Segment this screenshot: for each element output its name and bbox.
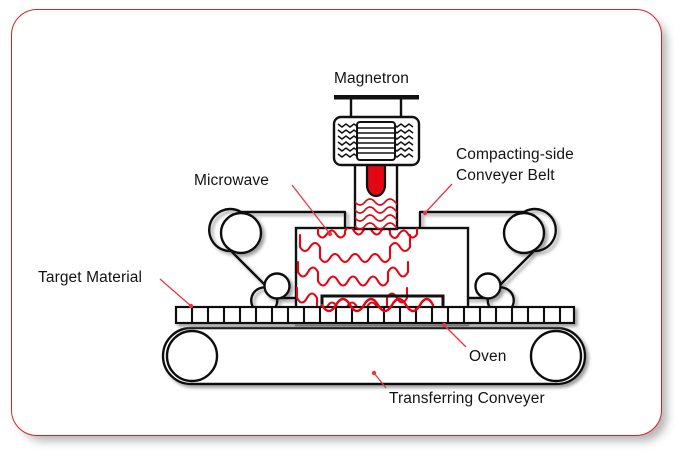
- leader-target-material: [160, 279, 191, 306]
- leader-compacting-belt: [425, 184, 452, 213]
- target-material-strip: [176, 307, 574, 323]
- diagram-stage: Magnetron Microwave Compacting-side Conv…: [0, 0, 685, 458]
- label-transferring-conveyer: Transferring Conveyer: [389, 390, 545, 409]
- label-compacting-side-conveyer-belt-line1: Compacting-side: [456, 146, 574, 165]
- magnetron: [334, 95, 419, 165]
- transferring-pulley-right: [531, 331, 581, 381]
- compacting-pulley-large-left: [221, 213, 261, 253]
- magnetron-top-bar: [334, 95, 419, 100]
- label-target-material: Target Material: [38, 269, 142, 288]
- process-diagram-svg: [0, 0, 685, 458]
- compacting-pulley-large-right: [504, 213, 544, 253]
- compacting-pulley-small-left: [265, 274, 290, 299]
- transferring-conveyor: [163, 328, 585, 384]
- label-magnetron: Magnetron: [334, 70, 409, 89]
- compacting-pulley-small-right: [476, 274, 501, 299]
- transferring-conveyor-belt: [163, 328, 585, 384]
- transferring-pulley-left: [167, 331, 217, 381]
- label-microwave: Microwave: [194, 172, 269, 191]
- waveguide: [355, 160, 405, 229]
- target-material: [176, 307, 574, 323]
- leader-microwave: [292, 185, 330, 234]
- label-oven: Oven: [469, 348, 506, 367]
- label-compacting-side-conveyer-belt-line2: Conveyer Belt: [456, 167, 555, 186]
